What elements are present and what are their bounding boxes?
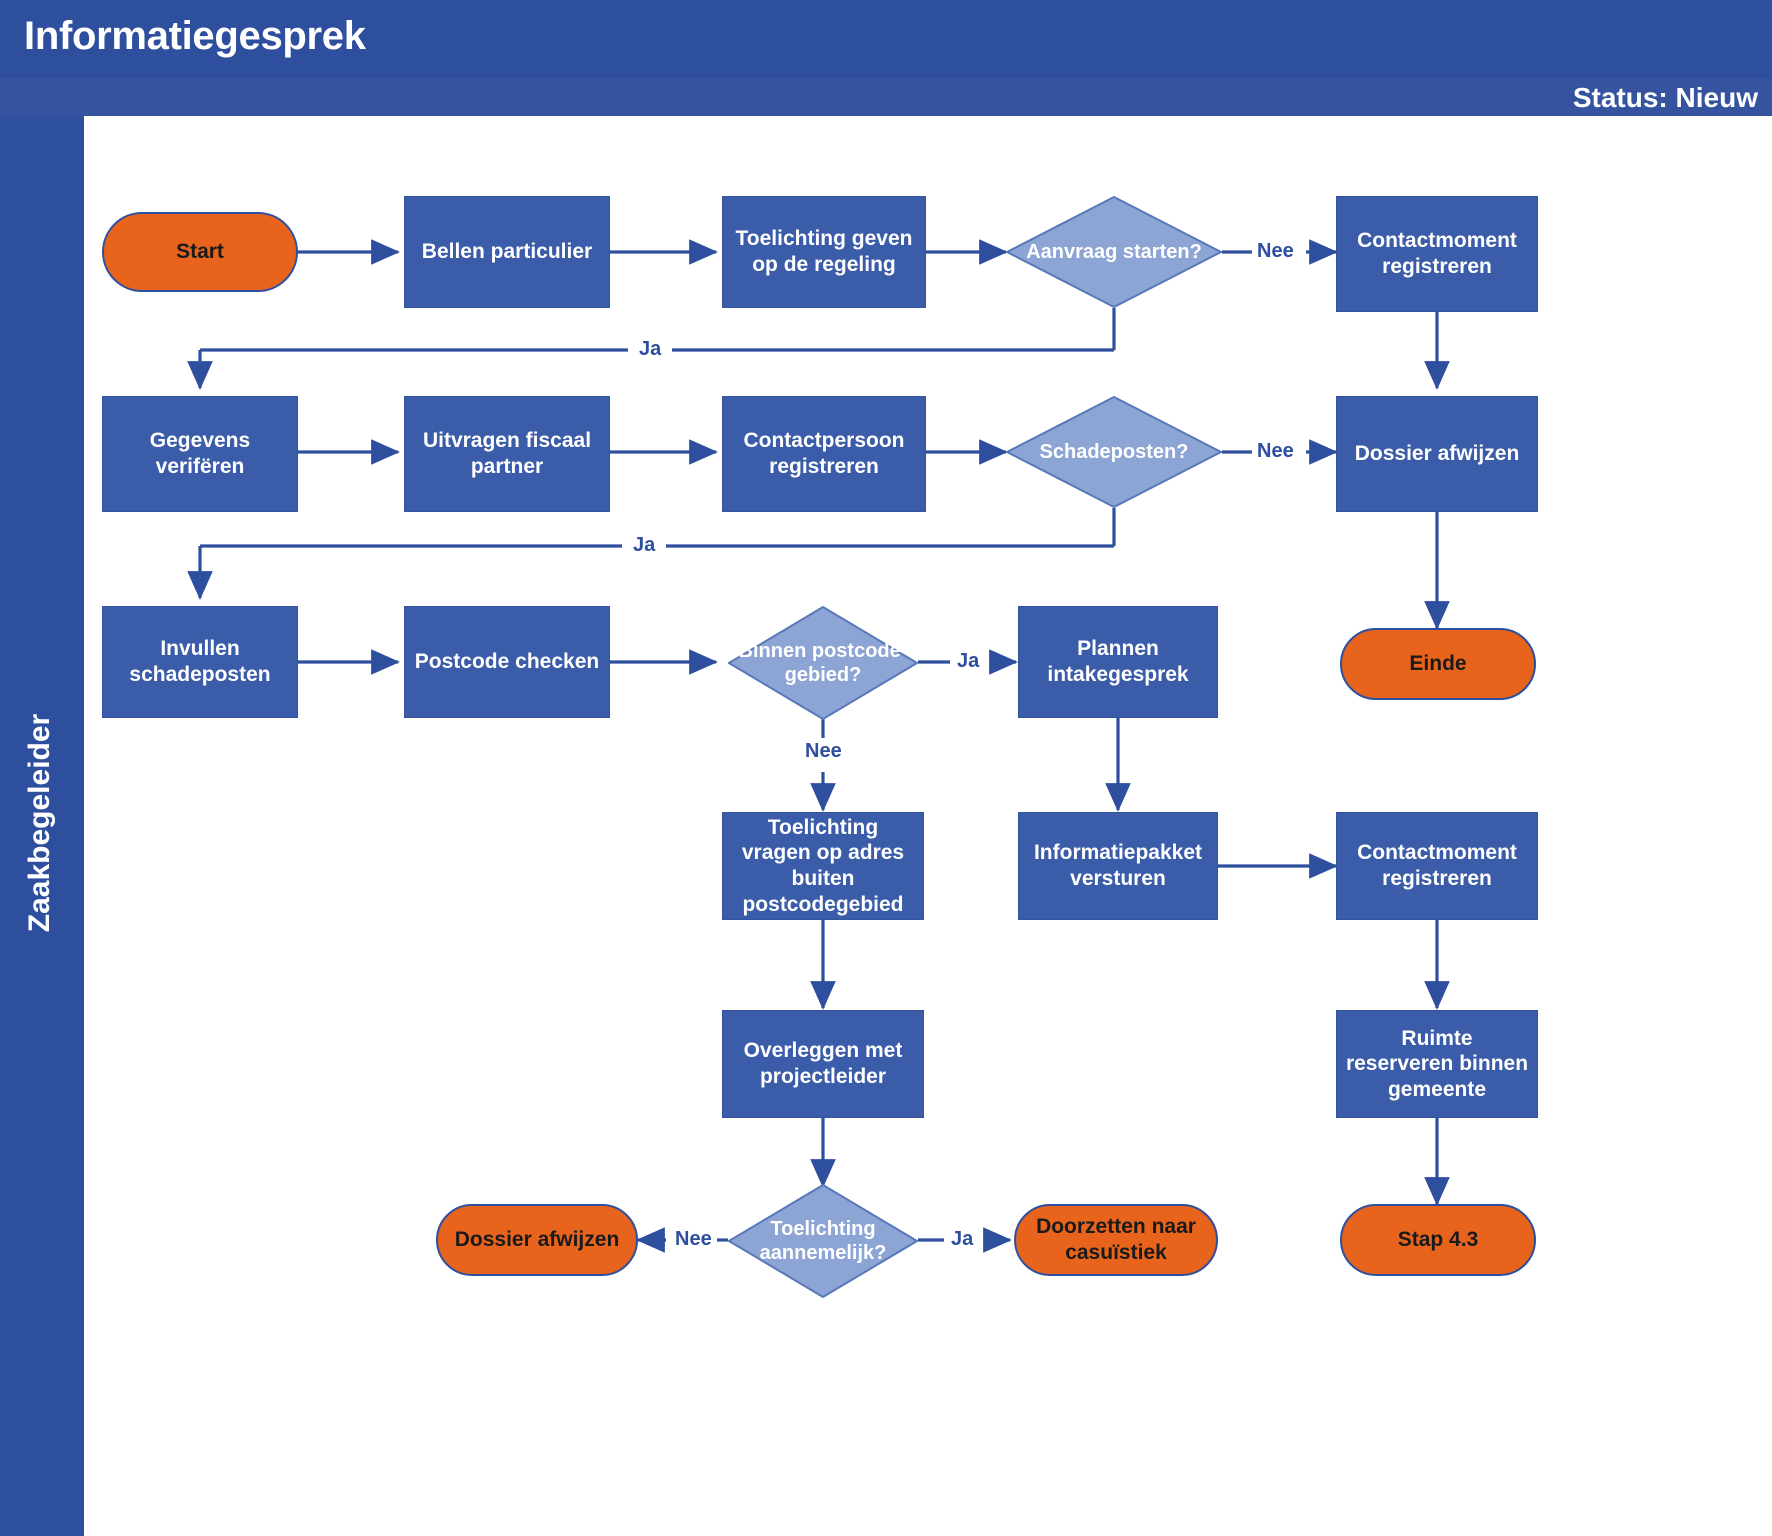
flowchart-canvas: Informatiegesprek Status: Nieuw Zaakbege… <box>0 0 1772 1536</box>
node-doorzetten-naar-casuistiek[interactable]: Doorzetten naar casuïstiek <box>1014 1204 1218 1276</box>
node-contactmoment-registreren-1[interactable]: Contactmoment registreren <box>1336 196 1538 312</box>
node-dossier-afwijzen-1[interactable]: Dossier afwijzen <box>1336 396 1538 512</box>
node-stap-4-3[interactable]: Stap 4.3 <box>1340 1204 1536 1276</box>
edge-label-postcode-nee: Nee <box>800 740 847 763</box>
node-uitvragen-fiscaal-partner[interactable]: Uitvragen fiscaal partner <box>404 396 610 512</box>
node-contactmoment-registreren-2[interactable]: Contactmoment registreren <box>1336 812 1538 920</box>
node-informatiepakket-versturen[interactable]: Informatiepakket versturen <box>1018 812 1218 920</box>
node-toelichting-vragen-op-adres[interactable]: Toelichting vragen op adres buiten postc… <box>722 812 924 920</box>
edge-label-schadeposten-nee: Nee <box>1252 440 1299 463</box>
node-dossier-afwijzen-2[interactable]: Dossier afwijzen <box>436 1204 638 1276</box>
edge-label-schadeposten-ja: Ja <box>628 534 660 557</box>
node-gegevens-verifieren[interactable]: Gegevens verifëren <box>102 396 298 512</box>
node-overleggen-met-projectleider[interactable]: Overleggen met projectleider <box>722 1010 924 1118</box>
node-postcode-checken[interactable]: Postcode checken <box>404 606 610 718</box>
swimlane-label: Zaakbegeleider <box>23 673 57 973</box>
node-aanvraag-starten-decision[interactable]: Aanvraag starten? <box>1006 196 1222 308</box>
node-contactpersoon-registreren[interactable]: Contactpersoon registreren <box>722 396 926 512</box>
node-schadeposten-decision[interactable]: Schadeposten? <box>1006 396 1222 508</box>
swimlane-header: Zaakbegeleider <box>0 116 84 1536</box>
edge-label-aannemelijk-ja: Ja <box>946 1228 978 1251</box>
edge-label-aanvraag-ja: Ja <box>634 338 666 361</box>
node-start[interactable]: Start <box>102 212 298 292</box>
status-badge: Status: Nieuw <box>1573 82 1758 114</box>
node-toelichting-geven-op-de-regeling[interactable]: Toelichting geven op de regeling <box>722 196 926 308</box>
node-ruimte-reserveren-binnen-gemeente[interactable]: Ruimte reserveren binnen gemeente <box>1336 1010 1538 1118</box>
node-binnen-postcodegebied-decision[interactable]: Binnen postcode-gebied? <box>728 606 918 720</box>
status-band <box>0 78 1772 116</box>
node-bellen-particulier[interactable]: Bellen particulier <box>404 196 610 308</box>
page-title: Informatiegesprek <box>24 14 366 59</box>
node-toelichting-aannemelijk-decision[interactable]: Toelichting aannemelijk? <box>728 1184 918 1298</box>
node-einde[interactable]: Einde <box>1340 628 1536 700</box>
edge-label-aanvraag-nee: Nee <box>1252 240 1299 263</box>
node-invullen-schadeposten[interactable]: Invullen schadeposten <box>102 606 298 718</box>
edge-label-postcode-ja: Ja <box>952 650 984 673</box>
edge-label-aannemelijk-nee: Nee <box>670 1228 717 1251</box>
node-plannen-intakegesprek[interactable]: Plannen intakegesprek <box>1018 606 1218 718</box>
